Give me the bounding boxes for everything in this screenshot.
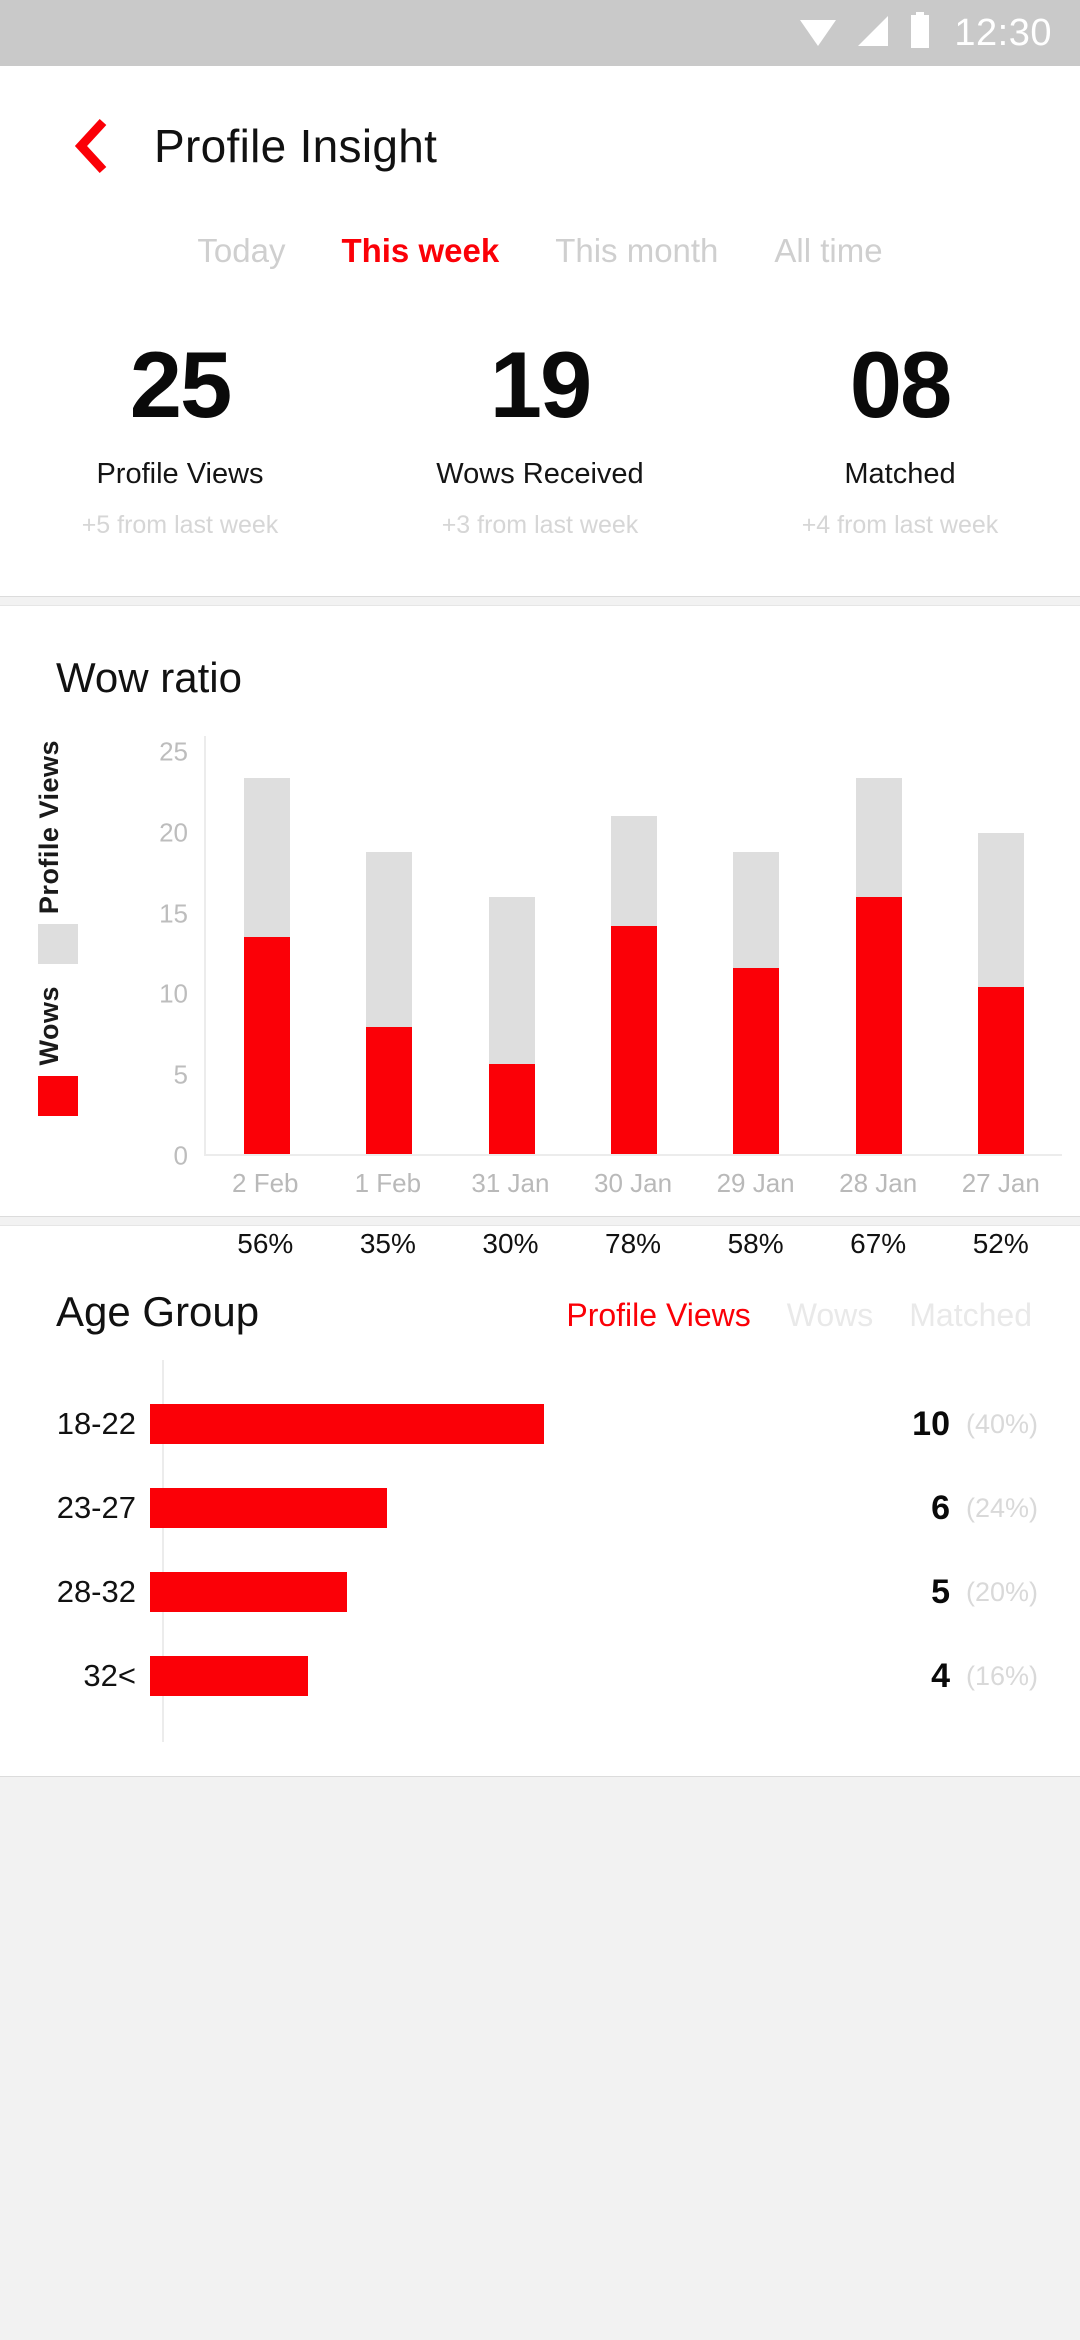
x-tick-label: 30 Jan [572, 1168, 695, 1199]
bar-segment-wows [733, 968, 779, 1154]
bar-column[interactable] [573, 736, 695, 1154]
bar-segment-profile-views [244, 778, 290, 937]
bar-segment-profile-views [366, 852, 412, 1027]
bar-column[interactable] [328, 736, 450, 1154]
ratio-percent: 52% [939, 1228, 1062, 1260]
stat-matched: 08 Matched +4 from last week [720, 338, 1080, 540]
stat-label: Wows Received [360, 458, 720, 491]
battery-icon [908, 12, 932, 55]
bar-segment-wows [978, 987, 1024, 1154]
bar-column[interactable] [940, 736, 1062, 1154]
x-tick-label: 27 Jan [939, 1168, 1062, 1199]
bar-segment-profile-views [856, 778, 902, 897]
page-background-filler [0, 1776, 1080, 2112]
age-row[interactable]: 32< 4 (16%) [0, 1634, 1080, 1718]
age-row[interactable]: 18-22 10 (40%) [0, 1382, 1080, 1466]
bar-column[interactable] [206, 736, 328, 1154]
ratio-percent: 67% [817, 1228, 940, 1260]
bar-segment-wows [244, 937, 290, 1154]
bar-segment-wows [856, 897, 902, 1154]
legend-item-wows: Wows [34, 986, 78, 1116]
legend-swatch-wows [38, 1076, 78, 1116]
bar-segment-profile-views [978, 833, 1024, 987]
bar-series [206, 736, 1062, 1154]
age-group-chart: 18-22 10 (40%) 23-27 6 (24%) 28-32 [0, 1336, 1080, 1776]
plot-area [204, 736, 1062, 1156]
bar-column[interactable] [817, 736, 939, 1154]
x-tick-label: 2 Feb [204, 1168, 327, 1199]
age-category: 23-27 [0, 1490, 150, 1526]
age-bar-track [150, 1550, 880, 1634]
bar-segment-profile-views [733, 852, 779, 968]
age-group-title: Age Group [56, 1288, 259, 1336]
age-row[interactable]: 23-27 6 (24%) [0, 1466, 1080, 1550]
age-value: 5 [880, 1573, 950, 1612]
stacked-bar [856, 778, 902, 1154]
bar-segment-wows [366, 1027, 412, 1154]
stacked-bar [244, 778, 290, 1154]
tab-this-week[interactable]: This week [313, 222, 527, 280]
tab-this-month[interactable]: This month [527, 222, 746, 280]
plot: 25 20 15 10 5 0 [148, 736, 1062, 1156]
y-tick: 5 [174, 1060, 188, 1091]
age-category: 32< [0, 1658, 150, 1694]
tab-today[interactable]: Today [169, 222, 313, 280]
stat-value: 08 [720, 338, 1080, 432]
tab-all-time[interactable]: All time [746, 222, 910, 280]
stacked-bar [733, 852, 779, 1154]
stat-delta: +3 from last week [360, 511, 720, 540]
age-value: 6 [880, 1489, 950, 1528]
age-bar [150, 1404, 544, 1444]
status-bar: 12:30 [0, 0, 1080, 66]
stat-value: 19 [360, 338, 720, 432]
stat-wows-received: 19 Wows Received +3 from last week [360, 338, 720, 540]
y-tick: 25 [159, 737, 188, 768]
legend-label: Wows [34, 986, 65, 1066]
age-group-metric-tabs: Profile Views Wows Matched [548, 1297, 1050, 1334]
wow-ratio-chart: Profile Views Wows 25 20 15 10 5 0 [0, 736, 1080, 1216]
legend-label: Profile Views [34, 740, 65, 914]
wow-ratio-section: Wow ratio Profile Views Wows 25 20 15 10 [0, 606, 1080, 1216]
bar-segment-wows [611, 926, 657, 1154]
age-percent: (24%) [950, 1493, 1080, 1524]
age-group-section: Age Group Profile Views Wows Matched 18-… [0, 1226, 1080, 1776]
stacked-bar [611, 816, 657, 1154]
age-bar [150, 1572, 347, 1612]
age-value: 4 [880, 1657, 950, 1696]
x-tick-label: 28 Jan [817, 1168, 940, 1199]
x-tick-label: 1 Feb [327, 1168, 450, 1199]
age-row[interactable]: 28-32 5 (20%) [0, 1550, 1080, 1634]
ratio-percent: 78% [572, 1228, 695, 1260]
age-percent: (20%) [950, 1577, 1080, 1608]
stacked-bar [978, 833, 1024, 1154]
tab-matched[interactable]: Matched [891, 1297, 1050, 1334]
bar-column[interactable] [451, 736, 573, 1154]
page-title: Profile Insight [154, 119, 437, 173]
summary-stats: 25 Profile Views +5 from last week 19 Wo… [0, 290, 1080, 596]
stat-delta: +5 from last week [0, 511, 360, 540]
back-button[interactable] [64, 118, 120, 174]
wifi-icon [798, 14, 838, 53]
profile-insight-screen: 12:30 Profile Insight Today This week Th… [0, 0, 1080, 2340]
age-bar [150, 1488, 387, 1528]
x-axis-labels: 2 Feb 1 Feb 31 Jan 30 Jan 29 Jan 28 Jan … [204, 1168, 1062, 1199]
section-divider [0, 1216, 1080, 1226]
age-bar-track [150, 1382, 880, 1466]
y-tick: 0 [174, 1141, 188, 1172]
y-tick: 15 [159, 898, 188, 929]
y-axis: 25 20 15 10 5 0 [148, 736, 196, 1156]
age-percent: (16%) [950, 1661, 1080, 1692]
bar-segment-profile-views [489, 897, 535, 1064]
time-range-tabs: Today This week This month All time [0, 208, 1080, 290]
stat-label: Matched [720, 458, 1080, 491]
bar-segment-wows [489, 1064, 535, 1154]
legend-swatch-profile-views [38, 924, 78, 964]
legend-item-profile-views: Profile Views [34, 740, 78, 964]
bar-segment-profile-views [611, 816, 657, 925]
stat-value: 25 [0, 338, 360, 432]
y-tick: 10 [159, 979, 188, 1010]
section-divider [0, 596, 1080, 606]
stacked-bar [366, 852, 412, 1154]
tab-wows[interactable]: Wows [769, 1297, 892, 1334]
x-tick-label: 29 Jan [694, 1168, 817, 1199]
ratio-percent: 58% [694, 1228, 817, 1260]
ratio-percent: 30% [449, 1228, 572, 1260]
age-bar-track [150, 1466, 880, 1550]
ratio-percent-labels: 56% 35% 30% 78% 58% 67% 52% [204, 1228, 1062, 1260]
wow-ratio-title: Wow ratio [0, 606, 1080, 702]
app-bar: Profile Insight [0, 66, 1080, 208]
stacked-bar [489, 897, 535, 1154]
cellular-signal-icon [854, 14, 892, 53]
x-tick-label: 31 Jan [449, 1168, 572, 1199]
age-category: 28-32 [0, 1574, 150, 1610]
overview-section: Profile Insight Today This week This mon… [0, 66, 1080, 596]
stat-delta: +4 from last week [720, 511, 1080, 540]
age-bar [150, 1656, 308, 1696]
y-tick: 20 [159, 818, 188, 849]
ratio-percent: 56% [204, 1228, 327, 1260]
age-bar-track [150, 1634, 880, 1718]
chart-legend: Profile Views Wows [28, 736, 148, 1156]
tab-profile-views[interactable]: Profile Views [548, 1297, 768, 1334]
bar-column[interactable] [695, 736, 817, 1154]
age-value: 10 [880, 1405, 950, 1444]
stat-profile-views: 25 Profile Views +5 from last week [0, 338, 360, 540]
age-category: 18-22 [0, 1406, 150, 1442]
status-bar-clock: 12:30 [954, 14, 1052, 52]
ratio-percent: 35% [327, 1228, 450, 1260]
stat-label: Profile Views [0, 458, 360, 491]
age-percent: (40%) [950, 1409, 1080, 1440]
